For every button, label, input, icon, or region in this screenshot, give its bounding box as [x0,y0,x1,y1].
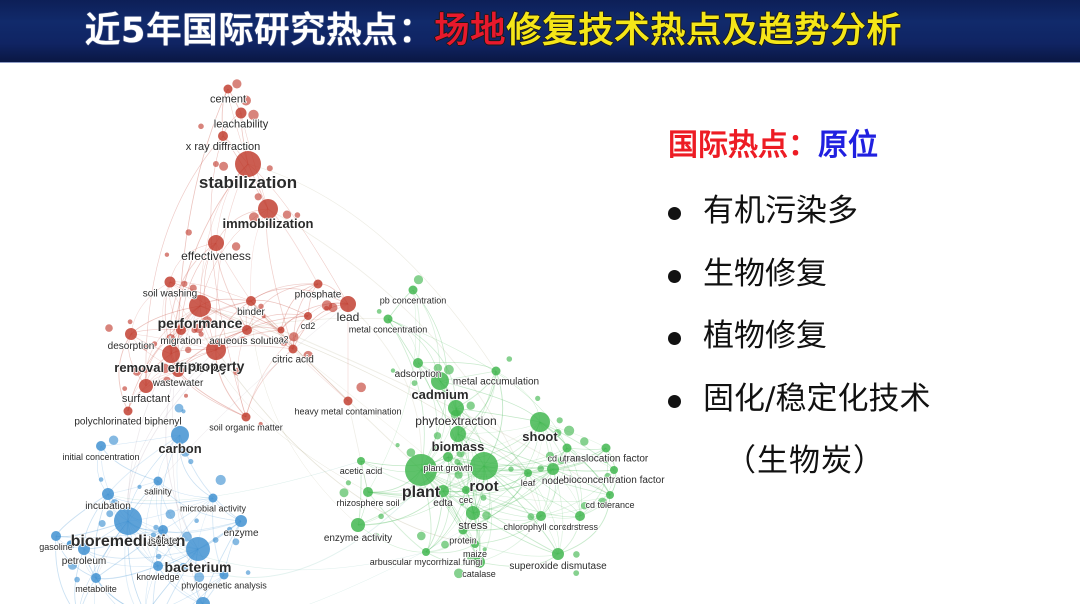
network-node-label: immobilization [223,216,314,231]
network-node-label: soil washing [143,289,197,300]
network-node-satellite [537,465,544,472]
bullet-dot-icon [668,332,681,345]
network-node-satellite [122,386,127,391]
bullet-dot-icon [668,270,681,283]
network-node-satellite [346,480,351,485]
network-node-satellite [213,537,219,543]
network-node[interactable] [289,345,298,354]
network-node[interactable] [602,444,611,453]
network-node-label: gasoline [39,542,73,552]
network-node[interactable] [384,315,393,324]
network-node-label: superoxide dismutase [509,561,607,572]
network-node-satellite [508,466,513,471]
network-node-label: enzyme activity [324,533,392,544]
network-node-satellite [414,275,423,284]
network-node-satellite [507,356,513,362]
network-node[interactable] [413,358,423,368]
network-node-satellite [535,396,540,401]
network-node-label: biomass [432,439,485,454]
network-node-label: cement [210,94,246,106]
network-node-satellite [186,229,192,235]
network-node-satellite [340,488,349,497]
network-node[interactable] [314,280,323,289]
network-node-satellite [194,518,199,523]
network-node-label: plant growth [423,463,472,473]
network-node[interactable] [351,518,365,532]
network-node-satellite [528,513,535,520]
network-node-label: rhizosphere soil [336,498,399,508]
network-node-satellite [184,394,188,398]
network-node[interactable] [536,511,546,521]
network-node[interactable] [246,296,256,306]
network-node-label: phylogenetic analysis [181,581,267,591]
network-node-label: salinity [144,487,172,497]
network-node-satellite [557,417,563,423]
network-node-satellite [564,426,574,436]
network-node-label: arbuscular mycorrhizal fungi [370,557,483,567]
list-item: 生物修复 [668,257,1080,293]
network-node[interactable] [344,397,353,406]
list-item-label: 生物修复 [703,257,827,293]
network-node-label: heavy metal contamination [294,407,401,417]
network-node-satellite [185,347,191,353]
network-node[interactable] [51,531,61,541]
network-node-label: x ray diffraction [186,141,260,153]
network-node-satellite [198,124,204,130]
network-node[interactable] [610,466,618,474]
panel-heading-value: 原位 [818,128,878,163]
network-node[interactable] [470,452,498,480]
network-node-label: knowledge [136,572,179,582]
list-item: 植物修复 [668,319,1080,355]
network-node-satellite [467,402,475,410]
bullet-dot-icon [668,395,681,408]
network-svg: cementleachabilityx ray diffractionstabi… [18,66,668,604]
network-node-label: isolate [149,536,178,547]
network-node-label: microbial activity [180,504,247,514]
network-node-label: cd tolerance [585,500,634,510]
network-node-label: performance [158,315,243,331]
network-node-label: petroleum [62,556,106,567]
network-node[interactable] [124,407,133,416]
network-node-label: migration [160,336,201,347]
network-node-satellite [580,437,588,445]
network-node-label: phytoextraction [415,414,496,428]
network-node[interactable] [186,537,210,561]
network-node-label: leaf [521,478,536,488]
network-node[interactable] [547,463,559,475]
network-node[interactable] [278,327,285,334]
network-node[interactable] [218,131,228,141]
network-node[interactable] [492,367,501,376]
network-node-satellite [481,495,487,501]
network-node-label: oa2 [273,335,288,345]
network-node[interactable] [139,379,153,393]
network-node-label: stabilization [199,173,297,192]
panel-heading: 国际热点：原位 [668,120,1080,164]
network-node-satellite [417,532,426,541]
network-node-satellite [289,332,298,341]
network-node-label: node [542,476,565,487]
page-title: 近5年国际研究热点：场地修复技术热点及趋势分析 [85,14,902,49]
network-node[interactable] [422,548,430,556]
network-node[interactable] [102,488,114,500]
network-node[interactable] [242,413,251,422]
network-node-satellite [181,281,187,287]
network-node-label: cec [459,495,474,505]
list-item-label: 植物修复 [703,319,827,355]
network-node-label: soil organic matter [209,423,283,433]
network-node-label: root [469,478,498,495]
network-node[interactable] [524,469,532,477]
network-node-satellite [246,570,251,575]
network-node[interactable] [96,441,106,451]
network-node[interactable] [125,328,137,340]
network-node[interactable] [153,561,163,571]
highlights-panel: 国际热点：原位 有机污染多 生物修复 植物修复 固化/稳定化技术 （生物炭） [668,120,1080,480]
network-node-satellite [378,514,384,520]
network-node[interactable] [552,548,564,560]
network-node-label: wastewater [152,378,204,389]
title-part-yellow: 修复技术热点及趋势分析 [506,11,902,51]
network-node-satellite [412,380,418,386]
network-node-label: effectiveness [181,249,251,263]
network-node-satellite [153,525,158,530]
network-node-label: polychlorinated biphenyl [74,417,181,428]
network-node-satellite [74,577,80,583]
network-node-satellite [444,365,454,375]
network-node-satellite [128,319,133,324]
network-node-satellite [377,309,382,314]
list-item: 固化/稳定化技术 [668,382,1080,418]
network-node-label: stress [458,520,488,532]
list-item: 有机污染多 [668,194,1080,230]
network-node-label: metal accumulation [453,377,539,388]
list-item-label: 有机污染多 [703,194,858,230]
network-node[interactable] [209,494,218,503]
network-node-label: adsorption [395,369,442,380]
network-node-label: binder [237,307,265,318]
network-node[interactable] [606,491,614,499]
network-node[interactable] [575,511,585,521]
network-node-label: property [188,358,245,374]
network-node-label: cd stress [562,522,599,532]
network-node-satellite [165,253,169,257]
network-node[interactable] [242,325,252,335]
network-node-satellite [109,436,118,445]
network-node-label: metal concentration [349,325,428,335]
network-node-label: protein [449,536,477,546]
network-node-label: metabolite [75,584,117,594]
network-node-satellite [255,193,262,200]
network-node-label: shoot [522,429,558,444]
network-node-satellite [137,485,141,489]
network-node-satellite [105,324,113,332]
network-node-label: edta [433,498,453,509]
network-node-satellite [213,161,219,167]
network-node-satellite [441,541,449,549]
list-item-sub-label: （生物炭） [725,435,1080,480]
network-node-satellite [233,538,240,545]
network-node-satellite [175,404,184,413]
network-node-satellite [232,79,241,88]
panel-heading-label: 国际热点： [668,128,818,163]
network-node-satellite [482,511,491,520]
network-node-label: cd2 [301,321,316,331]
network-node-label: phosphate [295,290,342,301]
network-node-satellite [573,551,580,558]
network-node-label: cadmium [411,387,468,402]
network-edge [567,448,606,449]
network-node-label: incubation [85,501,131,512]
network-node-label: translocation factor [564,454,649,465]
title-part-white: 近5年国际研究热点： [85,11,434,51]
network-node[interactable] [236,108,247,119]
network-node-label: leachability [214,119,269,131]
network-node-satellite [267,165,273,171]
keyword-network-map: cementleachabilityx ray diffractionstabi… [18,66,668,604]
network-node-label: carbon [158,441,201,456]
network-node[interactable] [165,277,176,288]
title-banner: 近5年国际研究热点：场地修复技术热点及趋势分析 [0,0,1080,62]
network-node-satellite [396,443,400,447]
network-node-satellite [99,477,104,482]
network-node[interactable] [357,457,365,465]
list-item-label: 固化/稳定化技术 [703,382,930,418]
network-node[interactable] [91,573,101,583]
network-node[interactable] [563,444,572,453]
network-node-label: bioconcentration factor [563,475,665,486]
network-node[interactable] [304,312,312,320]
network-node[interactable] [224,85,233,94]
network-node-label: enzyme [223,528,258,539]
slide-root: 近5年国际研究热点：场地修复技术热点及趋势分析 cementleachabili… [0,0,1080,607]
network-node-satellite [219,162,228,171]
network-node-satellite [166,509,176,519]
network-node-satellite [216,475,226,485]
network-node-satellite [407,448,416,457]
network-node[interactable] [363,487,373,497]
network-node-label: acetic acid [340,466,383,476]
network-node-satellite [156,554,161,559]
network-node-label: citric acid [272,355,314,366]
network-node-satellite [322,300,332,310]
bullet-dot-icon [668,207,681,220]
network-node-label: surfactant [122,393,170,405]
network-node-label: pb concentration [380,296,447,306]
network-node-label: catalase [462,569,496,579]
network-node-label: desorption [108,341,155,352]
network-node[interactable] [409,286,418,295]
network-node-satellite [188,459,193,464]
title-part-red: 场地 [434,11,506,51]
network-node[interactable] [154,477,163,486]
network-node-label: initial concentration [62,452,139,462]
network-node[interactable] [466,506,480,520]
network-node-satellite [356,383,366,393]
network-node-satellite [99,520,106,527]
network-node[interactable] [235,515,247,527]
network-node-label: lead [337,310,360,324]
